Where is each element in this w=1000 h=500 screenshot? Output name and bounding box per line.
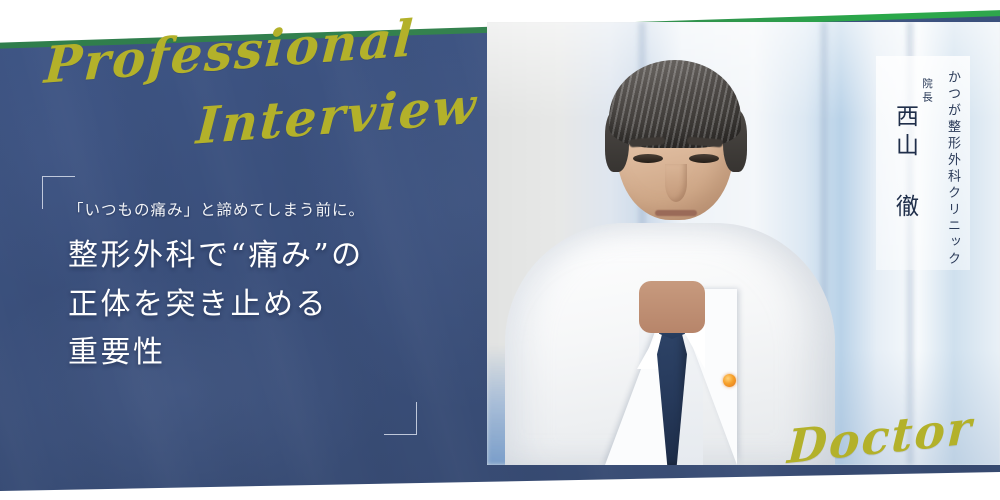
doctor-name: 西山 徹 xyxy=(893,104,916,223)
eye-right xyxy=(689,154,719,163)
clinic-name: かつが整形外科クリニック xyxy=(946,70,959,268)
mouth xyxy=(655,210,697,216)
eye-left xyxy=(633,154,663,163)
nose xyxy=(665,164,687,202)
headline-line-1: 整形外科で“痛み”の xyxy=(68,232,468,281)
lead-text: 「いつもの痛み」と諦めてしまう前に。 xyxy=(68,198,468,220)
neck xyxy=(639,281,705,333)
copy-block: 「いつもの痛み」と諦めてしまう前に。 整形外科で“痛み”の 正体を突き止める 重… xyxy=(68,198,468,378)
headline-line-3: 重要性 xyxy=(68,329,468,378)
hair xyxy=(609,60,741,148)
headline-line-2: 正体を突き止める xyxy=(68,281,468,330)
doctor-title: 院長 xyxy=(922,78,933,105)
lapel-pin-icon xyxy=(723,374,736,387)
doctor-nameplate: かつが整形外科クリニック 院長 西山 徹 xyxy=(876,56,970,270)
hero-banner: Professional Interview 「いつもの痛み」と諦めてしまう前に… xyxy=(0,0,1000,500)
doctor-name-block: 院長 西山 徹 xyxy=(893,78,933,223)
